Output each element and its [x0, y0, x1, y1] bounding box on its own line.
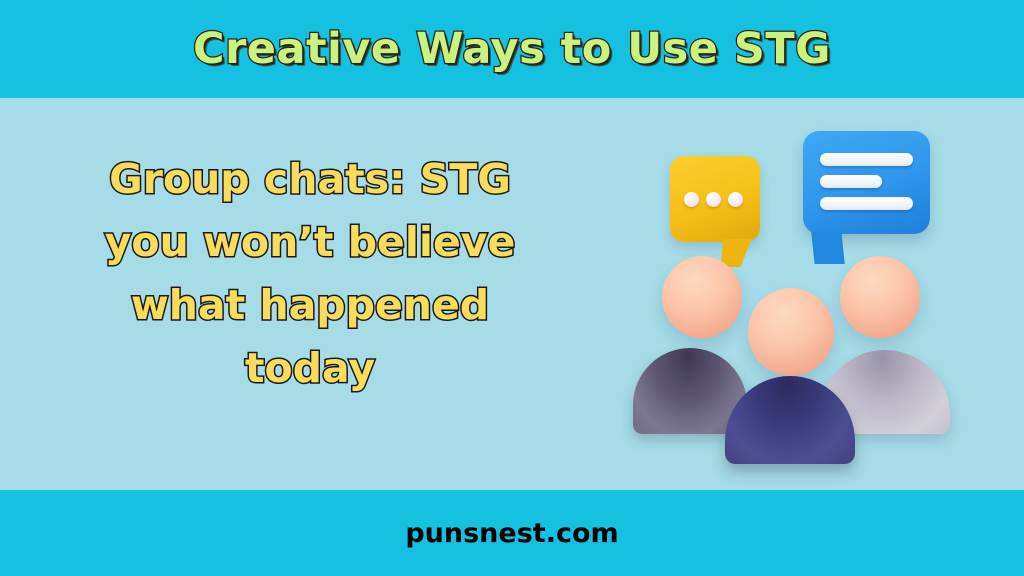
group-chat-illustration: [600, 98, 1000, 490]
caption-line-2: you won’t believe: [40, 211, 580, 274]
caption-block: Group chats: STG you won’t believe what …: [40, 148, 580, 400]
blue-speech-bubble-icon: [803, 131, 930, 234]
dot-icon-2: [706, 192, 721, 207]
person-center-head: [748, 288, 834, 376]
message-lines-group: [820, 153, 913, 210]
person-right-head: [840, 256, 920, 338]
caption-line-4: today: [40, 337, 580, 400]
graphic-canvas: Creative Ways to Use STG Group chats: ST…: [0, 0, 1024, 576]
footer-band: punsnest.com: [0, 490, 1024, 576]
page-title: Creative Ways to Use STG: [193, 24, 831, 74]
person-left-head: [662, 256, 742, 338]
dot-icon-3: [728, 192, 743, 207]
blue-bubble-tail: [811, 232, 844, 264]
body-area: Group chats: STG you won’t believe what …: [0, 98, 1024, 490]
message-line-icon-2: [820, 175, 882, 188]
message-line-icon-1: [820, 153, 913, 166]
dot-icon-1: [684, 192, 699, 207]
caption-line-3: what happened: [40, 274, 580, 337]
typing-dots-group: [684, 192, 743, 207]
yellow-speech-bubble-icon: [670, 156, 760, 242]
header-band: Creative Ways to Use STG: [0, 0, 1024, 98]
website-label: punsnest.com: [405, 518, 618, 549]
caption-line-1: Group chats: STG: [40, 148, 580, 211]
message-line-icon-3: [820, 197, 913, 210]
